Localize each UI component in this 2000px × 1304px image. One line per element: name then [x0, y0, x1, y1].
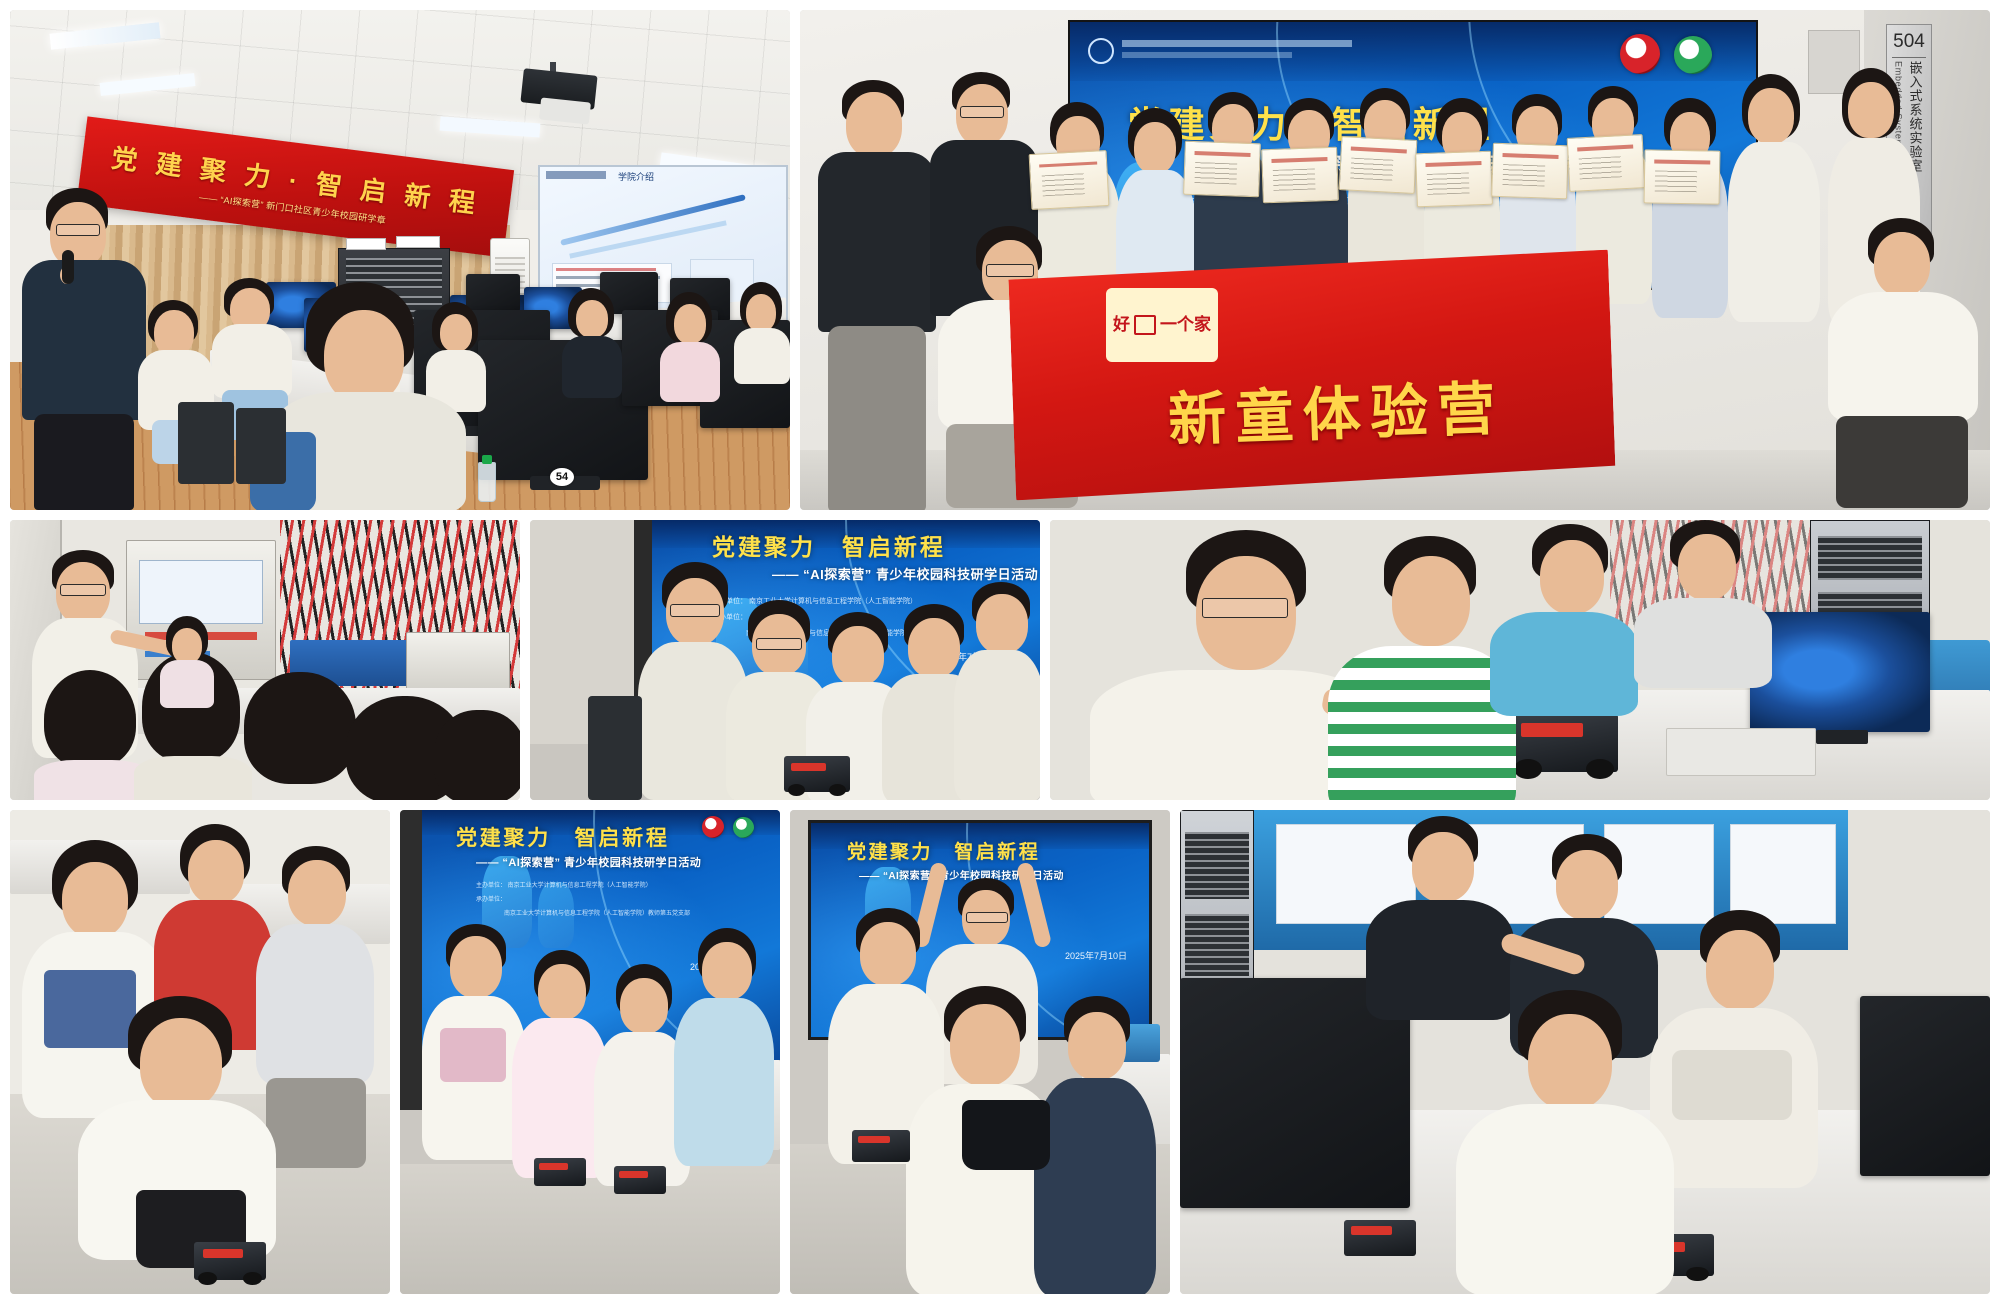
- hair: [434, 710, 520, 800]
- student: [558, 288, 628, 398]
- robot-car: [1510, 714, 1618, 772]
- emblem-red: [1620, 34, 1660, 74]
- head: [860, 922, 916, 986]
- chair: [178, 402, 234, 484]
- head: [1540, 540, 1604, 614]
- monitor-number-sticker: 54: [550, 468, 574, 486]
- head: [324, 310, 404, 404]
- student: [656, 292, 726, 402]
- photo-group-photo-with-red-flag: 504 嵌入式系统实验室 Embedded Systems Lab: [800, 10, 1990, 510]
- group-red-flag: 新童体验营: [1008, 250, 1616, 501]
- photo-students-at-lab-bench: [1180, 810, 1990, 1294]
- photo-girls-group-photo-before-screen: 党建聚力 智启新程 —— “AI探索营” 青少年校园科技研学日活动 主办单位： …: [400, 810, 780, 1294]
- glasses-icon: [56, 224, 100, 236]
- microphone: [62, 250, 74, 284]
- photo-collage: 党 建 聚 力 · 智 启 新 程 —— “AI探索营” 新门口社区青少年校园研…: [0, 0, 2000, 1304]
- robot-car: [1344, 1220, 1416, 1256]
- girl: [674, 928, 776, 1294]
- raised-arm: [1016, 861, 1052, 948]
- head: [620, 978, 668, 1034]
- screen-main-title: 党建聚力 智启新程: [712, 528, 946, 562]
- head: [62, 862, 128, 938]
- head: [538, 964, 586, 1020]
- legs: [266, 1078, 366, 1168]
- torso: [734, 328, 790, 384]
- photo-boys-group-photo-before-screen: 党建聚力 智启新程 —— “AI探索营” 青少年校园科技研学日活动 主办单位： …: [530, 520, 1040, 800]
- child: [430, 710, 520, 800]
- certificate: [1644, 149, 1721, 204]
- emblem-green: [733, 817, 754, 838]
- head: [1412, 832, 1474, 902]
- flag-badge-right: 一个家: [1160, 316, 1211, 334]
- torso: [954, 650, 1040, 800]
- glasses-icon: [1202, 598, 1288, 618]
- head: [288, 860, 346, 926]
- torso: [1328, 646, 1516, 800]
- head: [950, 1004, 1020, 1086]
- torso: [818, 152, 936, 332]
- rack-label-card: [396, 236, 440, 248]
- head: [1392, 556, 1470, 646]
- rack-label-card: [346, 238, 386, 250]
- torso: [1490, 612, 1638, 716]
- head: [846, 92, 902, 158]
- child: [160, 616, 216, 708]
- flag-badge-left: 好: [1113, 316, 1130, 334]
- torso: [22, 260, 146, 420]
- poster-panel: [1730, 824, 1836, 924]
- screen-organizer-line-1: 主办单位： 南京工业大学计算机与信息工程学院（人工智能学院）: [476, 880, 652, 889]
- legs: [828, 326, 926, 510]
- photo-children-testing-robot-floor: [10, 810, 390, 1294]
- projection-title: 学院介绍: [618, 170, 654, 183]
- robot-car: [194, 1242, 266, 1280]
- glasses-icon: [986, 264, 1034, 277]
- glasses-icon: [960, 106, 1004, 118]
- head: [832, 626, 884, 686]
- torso: [674, 998, 774, 1166]
- volunteer-right: [1822, 218, 1982, 508]
- flag-slogan: 新童体验营: [1167, 361, 1506, 457]
- child: [1634, 520, 1774, 680]
- adult-staff: [1728, 74, 1824, 354]
- torso: [160, 660, 214, 708]
- teacher: [954, 582, 1040, 800]
- torso: [1634, 598, 1772, 688]
- legs: [1836, 416, 1968, 508]
- head: [576, 300, 608, 338]
- boy: [1034, 996, 1158, 1294]
- chair: [588, 696, 642, 800]
- torso: [562, 336, 622, 398]
- arm-sling: [1672, 1050, 1792, 1120]
- header-dept-text: [1122, 52, 1292, 58]
- torso: [660, 342, 720, 402]
- screen-subtitle: —— “AI探索营” 青少年校园科技研学日活动: [772, 564, 1038, 583]
- shirt-print: [440, 1028, 506, 1082]
- head: [172, 628, 202, 664]
- photo-boys-cheering-before-screen: 党建聚力 智启新程 —— “AI探索营” 青少年校园科技研学日活动 2025年7…: [790, 810, 1170, 1294]
- legs: [34, 414, 134, 510]
- computer-monitor: [1750, 612, 1930, 732]
- whiteboard-edge: [400, 810, 422, 1110]
- chair: [236, 408, 286, 484]
- glasses-icon: [756, 638, 802, 650]
- screen-organizer-line-3: 南京工业大学计算机与信息工程学院（人工智能学院）教师第五党支部: [504, 908, 690, 917]
- head: [1134, 122, 1176, 174]
- head: [188, 840, 244, 904]
- flag-badge: 好 一个家: [1106, 288, 1218, 362]
- certificate: [1491, 143, 1569, 200]
- robot-car: [614, 1166, 666, 1194]
- torso: [134, 756, 252, 800]
- photo-lab-equipment-demo: [10, 520, 520, 800]
- torso: [1828, 292, 1978, 422]
- child: [1652, 98, 1732, 334]
- certificate: [1183, 141, 1261, 198]
- head: [1706, 930, 1774, 1010]
- glasses-icon: [966, 912, 1008, 923]
- certificate: [1567, 134, 1646, 192]
- screen-main-title: 党建聚力 智启新程: [456, 822, 670, 852]
- robot-car: [852, 1130, 910, 1162]
- screen-organizer-line-2: 承办单位：: [476, 894, 506, 903]
- head: [1528, 1014, 1612, 1110]
- hair: [44, 670, 136, 768]
- adult-staff: [818, 80, 938, 510]
- glasses-icon: [670, 604, 720, 617]
- student: [732, 282, 790, 382]
- head: [1874, 232, 1930, 296]
- glasses-icon: [60, 584, 106, 596]
- head: [702, 942, 752, 1000]
- photo-classroom-opening-lecture: 党 建 聚 力 · 智 启 新 程 —— “AI探索营” 新门口社区青少年校园研…: [10, 10, 790, 510]
- torso: [1728, 142, 1820, 322]
- monitor-stand: [1816, 730, 1868, 744]
- student-front: [256, 282, 496, 510]
- head: [674, 304, 706, 344]
- student: [1366, 816, 1516, 1016]
- child: [1490, 524, 1640, 714]
- torso: [1456, 1104, 1674, 1294]
- university-logo: [1088, 38, 1114, 64]
- head: [746, 294, 776, 332]
- room-number: 504: [1893, 31, 1925, 53]
- head: [140, 1018, 222, 1110]
- computer-monitor: [1860, 996, 1990, 1176]
- shoulder-bag: [962, 1100, 1050, 1170]
- head: [1748, 88, 1794, 144]
- certificate: [1339, 136, 1418, 194]
- student-front: [1456, 990, 1676, 1294]
- torso: [1034, 1078, 1156, 1294]
- robot-car: [534, 1158, 586, 1186]
- head: [1848, 82, 1894, 138]
- emblem-green: [1674, 36, 1712, 74]
- emblem-red: [702, 816, 724, 838]
- flag-badge-house-icon: [1134, 315, 1156, 335]
- keyboard: [1666, 728, 1816, 776]
- certificate: [1029, 150, 1110, 210]
- screen-event-date: 2025年7月10日: [1065, 949, 1127, 962]
- head: [1678, 534, 1736, 600]
- certificate: [1261, 147, 1339, 204]
- head: [1068, 1012, 1126, 1080]
- header-dept-text: [1122, 40, 1352, 47]
- photo-robot-assembly-workbench: [1050, 520, 1990, 800]
- head: [976, 594, 1028, 654]
- head: [450, 936, 502, 998]
- head: [908, 618, 960, 678]
- certificate: [1415, 151, 1493, 208]
- robot-car: [784, 756, 850, 792]
- head: [1556, 850, 1618, 920]
- screen-subtitle: —— “AI探索营” 青少年校园科技研学日活动: [476, 854, 701, 870]
